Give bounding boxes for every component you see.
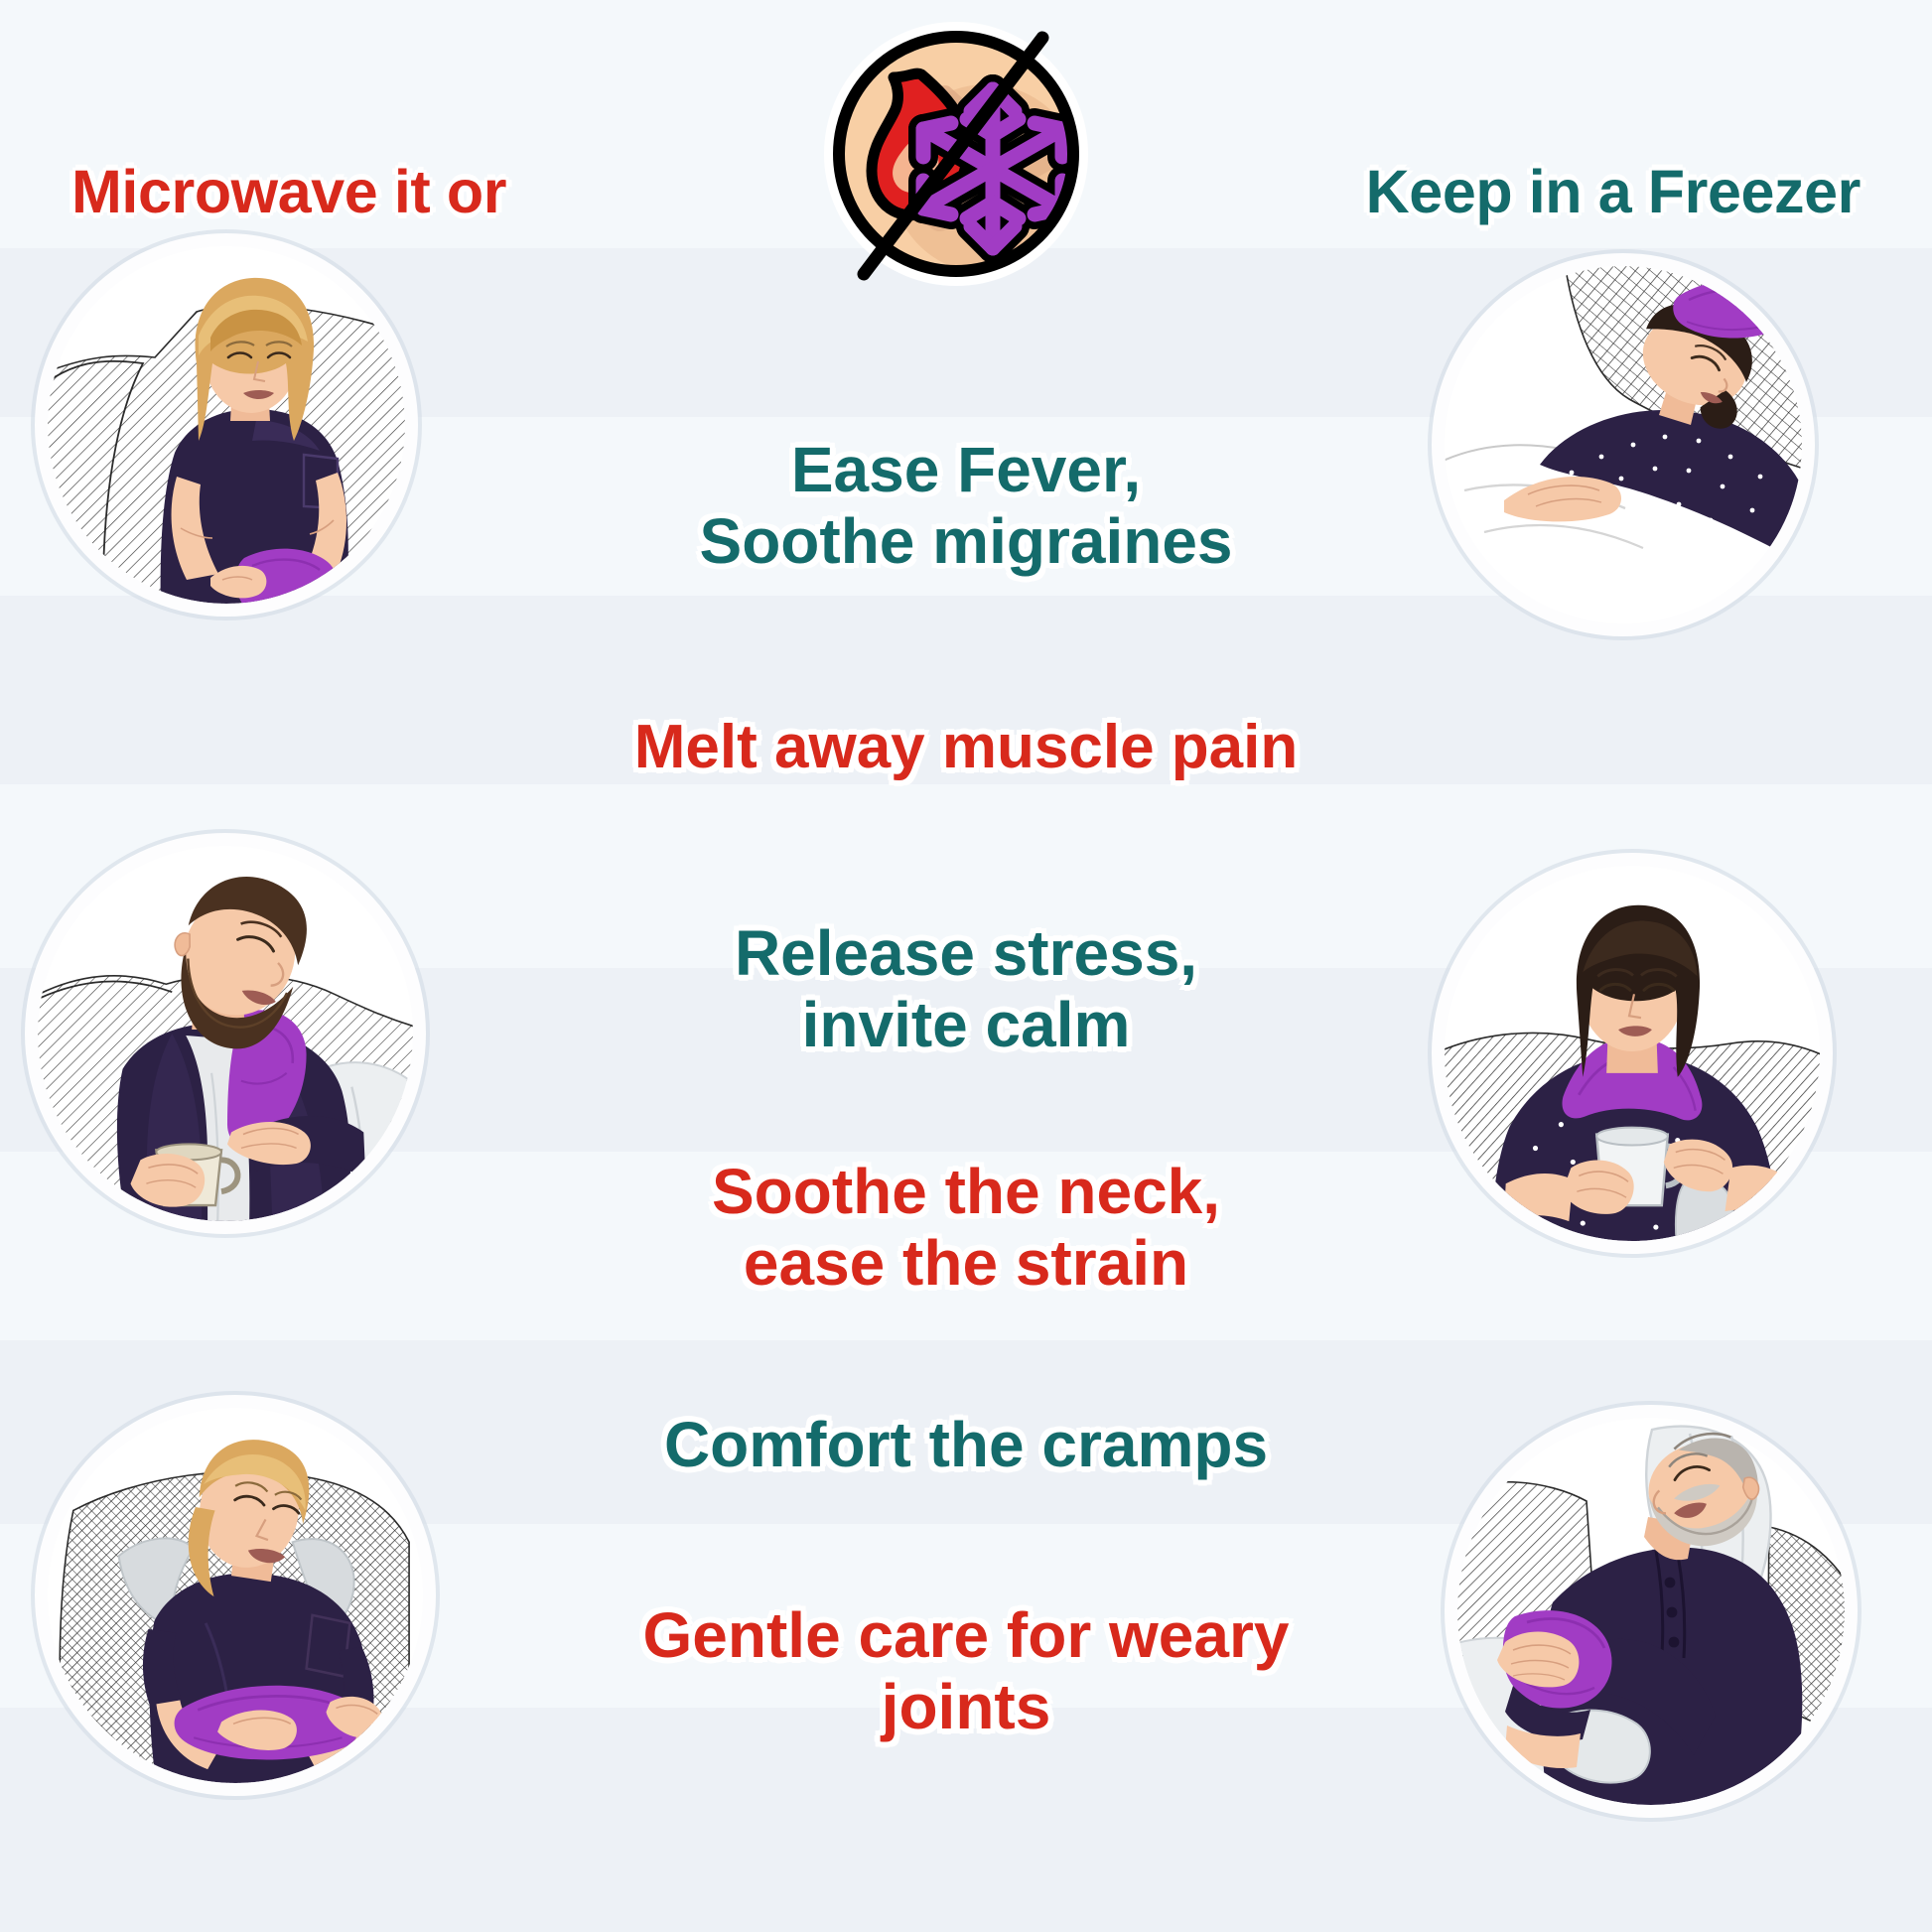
benefit-line: Release stress, [519, 918, 1413, 990]
no-heat-no-cold-icon [772, 20, 1140, 288]
scene-bearded-man-neck-wrap [38, 846, 413, 1221]
scene-woman-cold-pack-on-head [1445, 266, 1802, 623]
benefit-line: Comfort the cramps [519, 1410, 1413, 1481]
benefit-line: Ease Fever, [519, 435, 1413, 506]
benefit-line: invite calm [519, 990, 1413, 1061]
heading-freezer: Keep in a Freezer [1366, 157, 1861, 226]
scene-woman-heat-pad-on-knee [48, 246, 405, 604]
benefit-ease-fever: Ease Fever, Soothe migraines [519, 435, 1413, 577]
benefit-line: Gentle care for weary [519, 1600, 1413, 1672]
heading-microwave: Microwave it or [71, 157, 506, 226]
benefit-soothe-neck: Soothe the neck, ease the strain [519, 1157, 1413, 1299]
benefit-weary-joints: Gentle care for weary joints [519, 1600, 1413, 1742]
scene-woman-heat-pad-on-abdomen [48, 1408, 423, 1783]
scene-elderly-man-pad-on-elbow [1457, 1418, 1845, 1805]
scene-woman-neck-wrap-with-mug [1445, 866, 1820, 1241]
benefit-line: Melt away muscle pain [519, 713, 1413, 781]
benefit-line: Soothe the neck, [519, 1157, 1413, 1228]
benefit-muscle-pain: Melt away muscle pain [519, 713, 1413, 781]
infographic-canvas: Microwave it or Keep in a Freezer Ease F… [0, 0, 1932, 1932]
benefit-line: Soothe migraines [519, 506, 1413, 578]
benefit-line: ease the strain [519, 1228, 1413, 1300]
benefit-comfort-cramps: Comfort the cramps [519, 1410, 1413, 1481]
benefit-release-stress: Release stress, invite calm [519, 918, 1413, 1060]
benefit-line: joints [519, 1672, 1413, 1743]
